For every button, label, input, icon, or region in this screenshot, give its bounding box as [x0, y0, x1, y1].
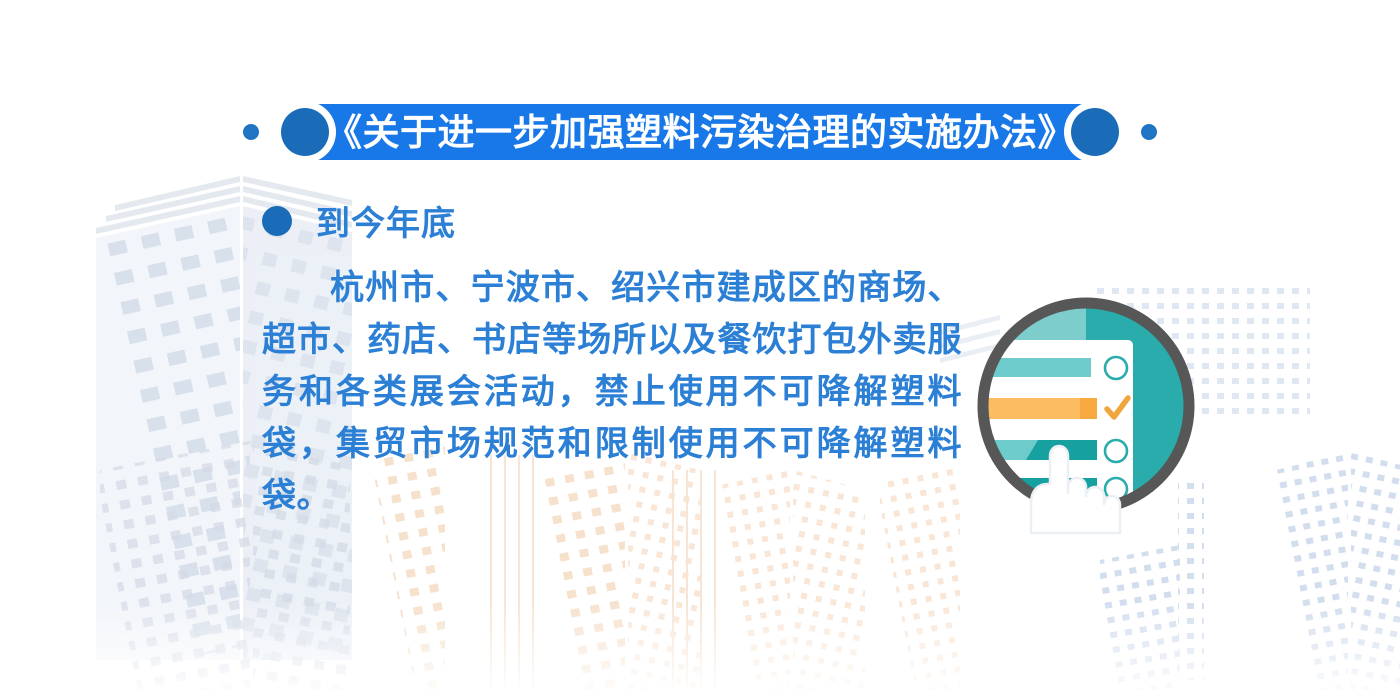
- checklist-svg: [968, 288, 1218, 538]
- page-title: 《关于进一步加强塑料污染治理的实施办法》: [321, 114, 1079, 151]
- body-paragraph: 杭州市、宁波市、绍兴市建成区的商场、超市、药店、书店等场所以及餐饮打包外卖服务和…: [262, 262, 962, 522]
- banner-wrap: 《关于进一步加强塑料污染治理的实施办法》: [281, 100, 1119, 164]
- banner-circle-right: [1071, 108, 1119, 156]
- banner-body: 《关于进一步加强塑料污染治理的实施办法》: [315, 104, 1085, 160]
- subheading-row: 到今年底: [262, 196, 456, 245]
- decor-dot-right: [1141, 124, 1157, 140]
- title-banner: 《关于进一步加强塑料污染治理的实施办法》: [0, 96, 1400, 168]
- bullet-icon: [262, 206, 292, 236]
- banner-circle-left: [281, 108, 329, 156]
- infographic-canvas: 《关于进一步加强塑料污染治理的实施办法》 到今年底 杭州市、宁波市、绍兴市建成区…: [0, 0, 1400, 700]
- subheading-text: 到今年底: [316, 196, 456, 245]
- checklist-illustration: [968, 288, 1218, 538]
- decor-dot-left: [243, 124, 259, 140]
